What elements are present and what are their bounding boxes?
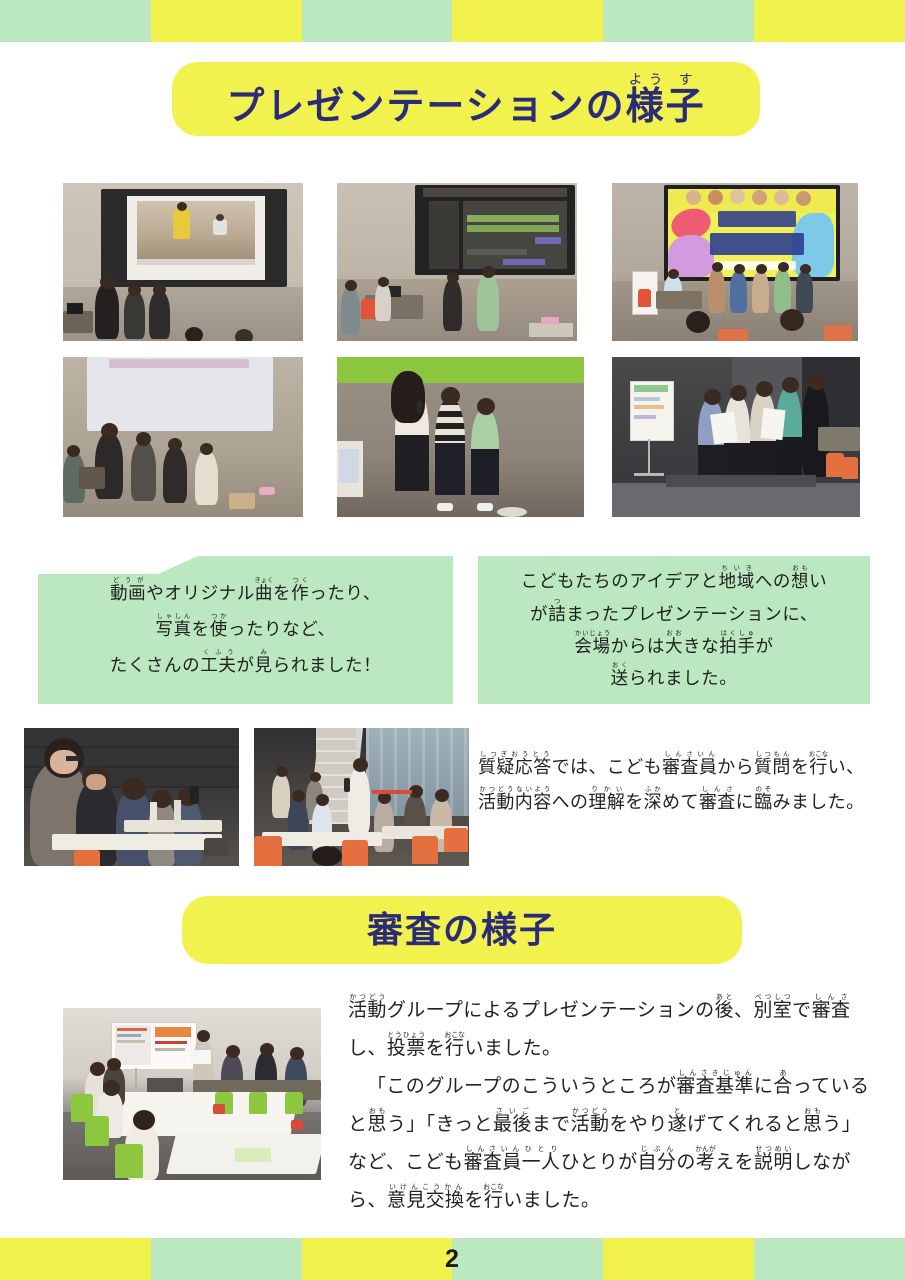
section-banner-judging: 審査の様子 <box>182 896 742 964</box>
paragraph-judging: 活動かつどうグループによるプレゼンテーションの後あと、別べつ室しつで審査しんさし… <box>348 992 878 1220</box>
section-banner-presentation: プレゼンテーションの様よう子す <box>172 62 760 136</box>
 <box>95 283 119 339</box>
page-number: 2 <box>0 1238 905 1280</box>
photo-judging-room-discussion <box>63 1008 321 1180</box>
border-cell <box>151 0 302 42</box>
border-cell <box>754 0 905 42</box>
caption-box-left: 動画どうがやオリジナル曲きょくを作つくったり、 写真しゃしんを使つかったりなど、… <box>38 556 453 704</box>
photo-presentation-video <box>63 183 303 341</box>
border-cell <box>603 0 754 42</box>
photo-child-judges-listening <box>24 728 239 866</box>
photo-group-lineup-white-screen <box>63 357 303 517</box>
photo-presenter-with-microphone <box>337 357 584 517</box>
caption-left-text: 動画どうがやオリジナル曲きょくを作つくったり、 写真しゃしんを使つかったりなど、… <box>110 576 382 684</box>
photo-question-and-answer-hall <box>254 728 469 866</box>
photo-group-with-poster-board <box>612 357 860 517</box>
paragraph-question-answer: 質疑応答しつぎおうとうでは、こども審査員しんさいんから質問しつもんを行おこない、… <box>478 750 878 820</box>
section-title-judging: 審査の様子 <box>367 912 557 948</box>
photo-presentation-themesong <box>337 183 577 341</box>
border-cell <box>452 0 603 42</box>
border-cell <box>302 0 453 42</box>
caption-right-text: こどもたちのアイデアと地域ちいきへの想おもい が詰つまったプレゼンテーションに、… <box>521 565 828 695</box>
top-decorative-border <box>0 0 905 42</box>
photo-presentation-thankyou <box>612 183 858 341</box>
caption-box-right: こどもたちのアイデアと地域ちいきへの想おもい が詰つまったプレゼンテーションに、… <box>478 556 870 704</box>
border-cell <box>0 0 151 42</box>
section-title-presentation: プレゼンテーションの様よう子す <box>226 72 705 126</box>
